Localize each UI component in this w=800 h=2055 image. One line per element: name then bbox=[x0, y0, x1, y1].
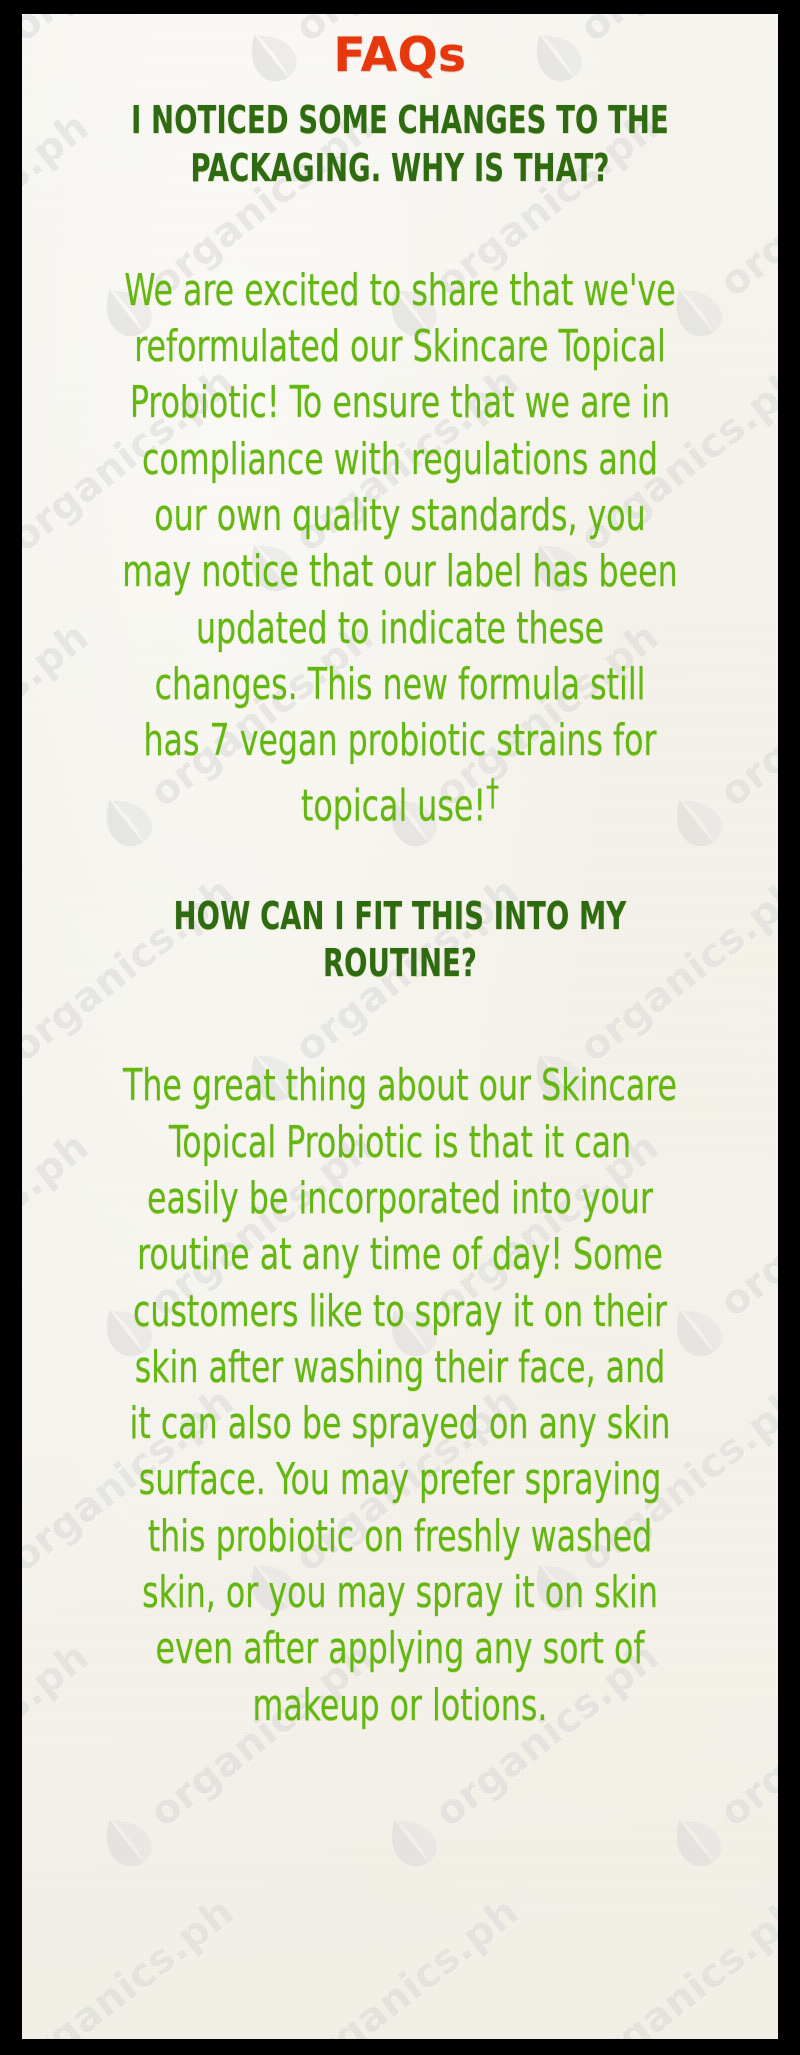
faq-question-2-line-1: HOW CAN I FIT THIS INTO MY ROUTINE? bbox=[122, 893, 679, 989]
watermark: organics.ph bbox=[513, 1882, 778, 2039]
watermark-text: organics.ph bbox=[286, 1889, 527, 2039]
spacer bbox=[52, 835, 748, 893]
spacer bbox=[52, 988, 748, 1058]
faq-answer-1-footnote-marker: † bbox=[486, 772, 499, 814]
leaf-icon bbox=[83, 1797, 170, 1884]
leaf-icon bbox=[368, 1797, 455, 1884]
label-paper: organics.phorganics.phorganics.phorganic… bbox=[22, 14, 778, 2039]
image-frame: organics.phorganics.phorganics.phorganic… bbox=[0, 0, 800, 2055]
watermark-text: organics.ph bbox=[571, 1889, 778, 2039]
faq-answer-1: We are excited to share that we've refor… bbox=[122, 263, 679, 835]
watermark: organics.ph bbox=[22, 1882, 248, 2039]
faq-answer-2: The great thing about our Skincare Topic… bbox=[122, 1058, 679, 1734]
faq-answer-2-text: The great thing about our Skincare Topic… bbox=[123, 1060, 677, 1730]
faq-content: FAQs I NOTICED SOME CHANGES TO THE PACKA… bbox=[22, 14, 778, 1734]
faq-question-1-line-2: PACKAGING. WHY IS THAT? bbox=[122, 145, 679, 193]
faq-item-1: I NOTICED SOME CHANGES TO THE PACKAGING.… bbox=[52, 97, 748, 835]
watermark: organics.ph bbox=[228, 1882, 533, 2039]
spacer bbox=[52, 193, 748, 263]
faq-item-2: HOW CAN I FIT THIS INTO MY ROUTINE? The … bbox=[52, 893, 748, 1735]
watermark-text: organics.ph bbox=[22, 1889, 243, 2039]
faq-question-1-line-1: I NOTICED SOME CHANGES TO THE bbox=[122, 97, 679, 145]
leaf-icon bbox=[653, 1797, 740, 1884]
faq-answer-1-text: We are excited to share that we've refor… bbox=[122, 265, 677, 831]
page-title: FAQs bbox=[52, 32, 748, 79]
